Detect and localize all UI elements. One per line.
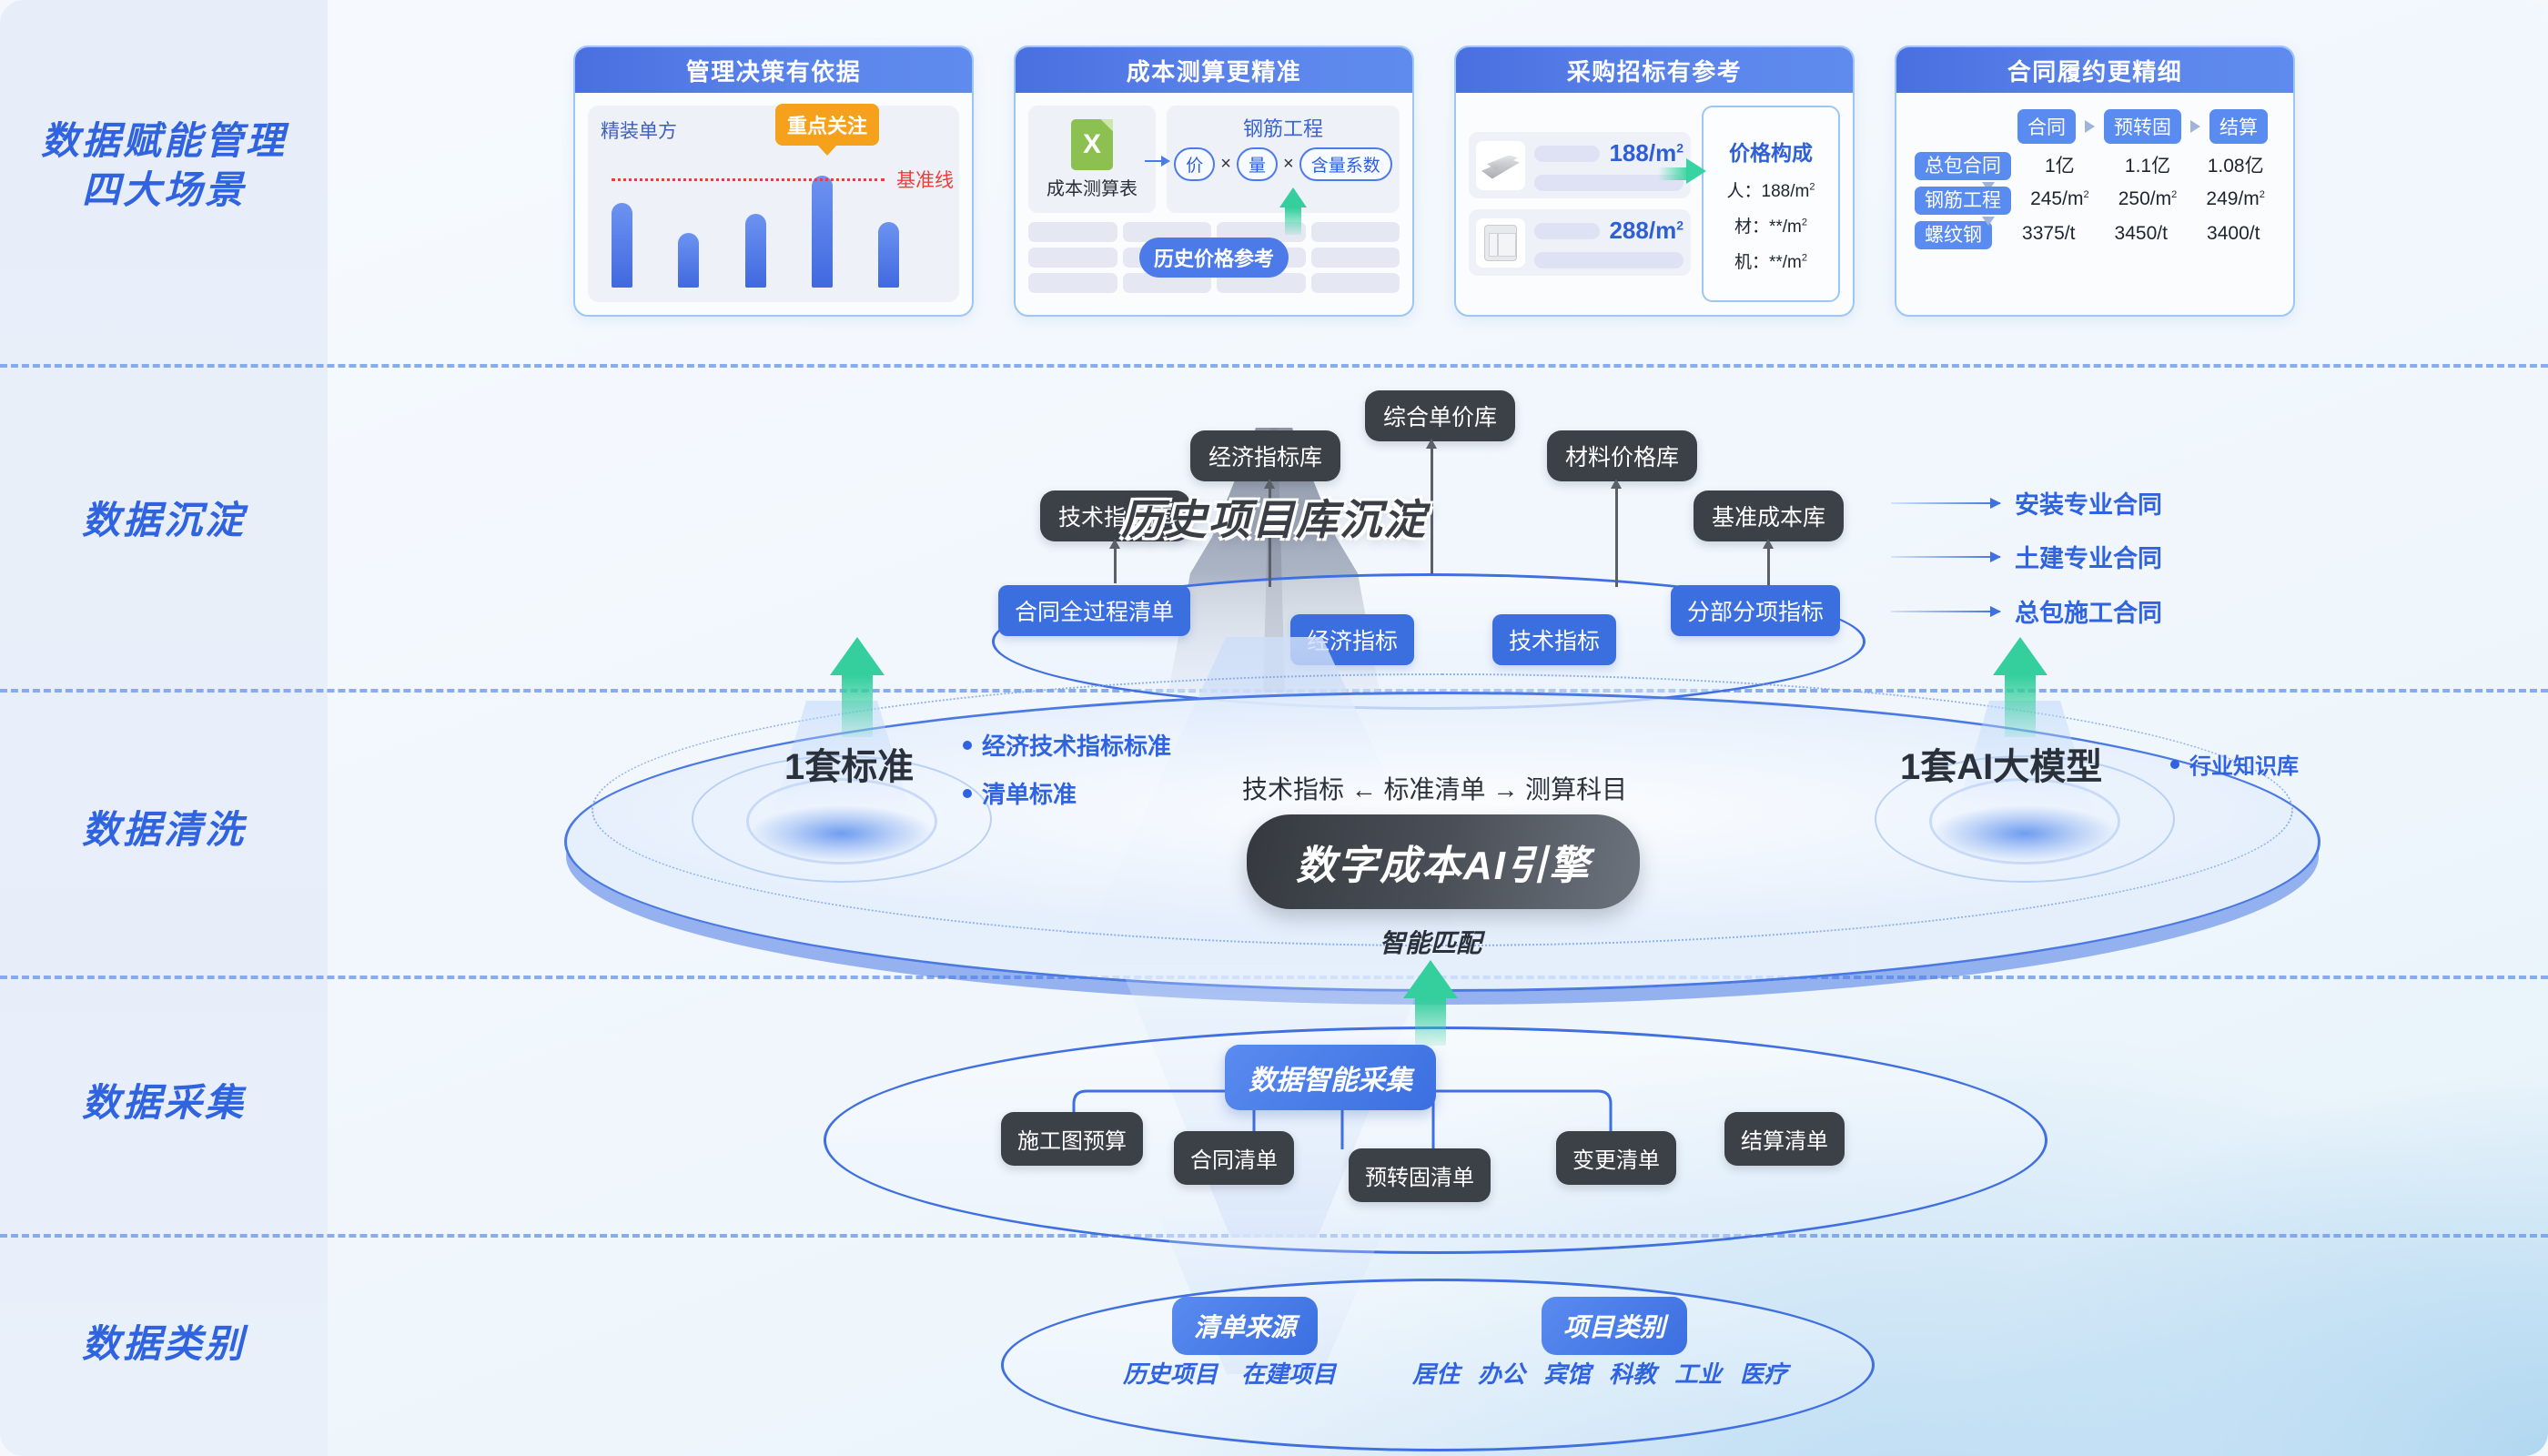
card-management-decision[interactable]: 管理决策有依据 精装单方 基准线 重点关注 — [573, 45, 974, 317]
flow-text: 技术指标 ← 标准清单 → 测算科目 — [1242, 770, 1627, 806]
collection-item-change-list[interactable]: 变更清单 — [1556, 1131, 1676, 1185]
arrow-right-icon — [1891, 502, 2000, 504]
arrow-right-icon — [1891, 611, 2000, 612]
cell-1-2: 1.1亿 — [2108, 151, 2188, 178]
formula-term-price: 价 — [1174, 147, 1215, 181]
formula-term-qty: 量 — [1237, 147, 1278, 181]
rail-label-scenarios: 数据赋能管理 四大场景 — [0, 116, 328, 215]
material-list: 188/m2 288/m2 — [1469, 106, 1691, 302]
rail-label-cleaning: 数据清洗 — [0, 805, 328, 854]
arrow-down-icon — [1982, 217, 1995, 226]
estimation-row: X 成本测算表 钢筋工程 价 × 量 × 含量系数 — [1028, 106, 1400, 213]
formula-term-coef: 含量系数 — [1299, 147, 1392, 181]
cost-table-block: X 成本测算表 — [1028, 106, 1156, 213]
placeholder-bar — [1534, 252, 1683, 268]
row-label-rebar: 钢筋工程 — [1915, 186, 2011, 213]
scenario-cards: 管理决策有依据 精装单方 基准线 重点关注 — [573, 45, 2295, 317]
card-body-1: 精装单方 基准线 重点关注 — [575, 93, 972, 315]
category-type-items: 居住 办公 宾馆 科教 工业 医疗 — [1412, 1356, 1787, 1390]
history-price-block: 历史价格参考 — [1028, 222, 1400, 293]
contract-table-header: 合同 预转固 结算 — [1915, 109, 2275, 144]
card-title-4: 合同履约更精细 — [1896, 47, 2293, 93]
rail-label-scenarios-line2: 四大场景 — [0, 166, 328, 215]
col-header-contract: 合同 — [2017, 109, 2076, 144]
col-header-transfer: 预转固 — [2104, 109, 2181, 144]
cell-1-3: 1.08亿 — [2196, 151, 2275, 178]
collection-main-badge[interactable]: 数据智能采集 — [1225, 1045, 1436, 1110]
collection-item-contract-list[interactable]: 合同清单 — [1174, 1131, 1294, 1185]
price-composition-title: 价格构成 — [1729, 136, 1813, 167]
collection-item-transfer-list[interactable]: 预转固清单 — [1349, 1148, 1491, 1202]
row-label-general: 总包合同 — [1915, 151, 2011, 178]
multiply-icon-1: × — [1220, 154, 1231, 175]
bullet-list-standard: 清单标准 — [963, 776, 1171, 810]
rebar-subject: 钢筋工程 — [1243, 113, 1323, 142]
skeleton-line — [1028, 248, 1117, 268]
chip-contract-full-list[interactable]: 合同全过程清单 — [998, 585, 1190, 636]
card-body-3: 188/m2 288/m2 — [1456, 93, 1853, 315]
bullet-dot — [963, 789, 972, 798]
rail-label-category: 数据类别 — [0, 1319, 328, 1369]
brick-icon — [1476, 141, 1525, 190]
chip-material-price-library[interactable]: 材料价格库 — [1547, 430, 1697, 481]
switch-icon — [1476, 218, 1525, 268]
baseline-label: 基准线 — [896, 166, 954, 193]
category-item-ongoing-project[interactable]: 在建项目 — [1241, 1356, 1336, 1390]
side-arrow-general: 总包施工合同 — [1891, 593, 2162, 629]
rail-label-sedimentation: 数据沉淀 — [0, 496, 328, 545]
skeleton-line — [1311, 273, 1400, 293]
cell-3-1: 3375/t — [2007, 223, 2091, 245]
chip-econ-index-library[interactable]: 经济指标库 — [1190, 430, 1340, 481]
ai-model-bullets: 行业知识库 — [2170, 748, 2299, 794]
bar-chart: 精装单方 基准线 重点关注 — [588, 106, 959, 302]
side-arrow-label-general: 总包施工合同 — [2015, 593, 2162, 629]
card-title-1: 管理决策有依据 — [575, 47, 972, 93]
bar-1 — [612, 203, 632, 288]
chip-composite-price-library[interactable]: 综合单价库 — [1365, 390, 1515, 441]
table-row: 螺纹钢 3375/t 3450/t 3400/t — [1915, 220, 2275, 248]
skeleton-line — [1311, 248, 1400, 268]
price-row-machine: 机：**/m2 — [1734, 248, 1807, 273]
connector-1 — [1114, 547, 1117, 583]
rail-label-scenarios-line1: 数据赋能管理 — [0, 116, 328, 166]
card-cost-estimation[interactable]: 成本测算更精准 X 成本测算表 钢筋工程 价 × 量 × — [1014, 45, 1414, 317]
category-item-medical[interactable]: 医疗 — [1740, 1356, 1787, 1390]
multiply-icon-2: × — [1283, 154, 1294, 175]
chip-baseline-cost-library[interactable]: 基准成本库 — [1694, 490, 1844, 541]
green-up-arrow-right-icon — [2005, 637, 2036, 737]
bullet-industry-knowledge: 行业知识库 — [2170, 748, 2299, 780]
cell-3-3: 3400/t — [2192, 223, 2276, 245]
cell-3-2: 3450/t — [2099, 223, 2183, 245]
chip-tech-index[interactable]: 技术指标 — [1492, 614, 1616, 665]
green-up-arrow-mid-icon — [1415, 960, 1446, 1046]
placeholder-bar — [1534, 223, 1600, 239]
price-row-material: 材：**/m2 — [1734, 213, 1807, 238]
ai-model-title: 1套AI大模型 — [1900, 737, 2102, 790]
side-arrow-label-install: 安装专业合同 — [2015, 485, 2162, 521]
rail-label-collection: 数据采集 — [0, 1078, 328, 1127]
ai-engine-badge[interactable]: 数字成本AI引擎 — [1247, 814, 1640, 909]
chart-bars — [612, 151, 899, 288]
collection-item-drawing-budget[interactable]: 施工图预算 — [1001, 1112, 1143, 1166]
material-meta: 288/m2 — [1534, 217, 1683, 268]
price-composition-panel: 价格构成 人：188/m2 材：**/m2 机：**/m2 — [1702, 106, 1840, 302]
history-price-badge: 历史价格参考 — [1139, 238, 1289, 278]
category-item-education[interactable]: 科教 — [1609, 1356, 1656, 1390]
green-arrow-tail — [1658, 167, 1689, 180]
skeleton-line — [1028, 273, 1117, 293]
table-row: 钢筋工程 245/m2 250/m2 249/m2 — [1915, 186, 2275, 213]
contract-table: 合同 预转固 结算 总包合同 1亿 1.1亿 1.08亿 钢筋工程 — [1909, 106, 2280, 302]
arrow-right-icon — [2190, 120, 2200, 133]
cell-2-2: 250/m2 — [2108, 188, 2188, 210]
baseline-rule — [612, 178, 885, 181]
green-up-arrow-icon — [1285, 187, 1301, 235]
category-item-office[interactable]: 办公 — [1478, 1356, 1525, 1390]
bullet-dot — [2170, 760, 2179, 769]
arrow-right-icon — [2085, 120, 2095, 133]
side-arrow-label-civil: 土建专业合同 — [2015, 539, 2162, 574]
bullet-econ-tech-standard: 经济技术指标标准 — [963, 728, 1171, 762]
col-header-settlement: 结算 — [2209, 109, 2268, 144]
placeholder-bar — [1534, 146, 1600, 162]
formula: 价 × 量 × 含量系数 — [1174, 147, 1391, 181]
material-meta: 188/m2 — [1534, 139, 1683, 191]
smart-match-label: 智能匹配 — [1380, 924, 1481, 960]
card-contract-performance[interactable]: 合同履约更精细 合同 预转固 结算 总包合同 1亿 1.1亿 1.08亿 — [1895, 45, 2295, 317]
bar-4 — [812, 176, 833, 288]
table-row: 总包合同 1亿 1.1亿 1.08亿 — [1915, 151, 2275, 178]
skeleton-line — [1028, 222, 1117, 242]
collection-item-settlement-list[interactable]: 结算清单 — [1724, 1112, 1845, 1166]
focus-badge: 重点关注 — [775, 104, 879, 146]
section-divider-1 — [0, 364, 2548, 368]
category-item-historic-project[interactable]: 历史项目 — [1123, 1356, 1218, 1390]
card-body-4: 合同 预转固 结算 总包合同 1亿 1.1亿 1.08亿 钢筋工程 — [1896, 93, 2293, 315]
mountain-title: 历史项目库沉淀 — [1121, 487, 1427, 547]
cost-table-label: 成本测算表 — [1046, 174, 1137, 200]
cell-2-1: 245/m2 — [2020, 188, 2099, 210]
category-group-type[interactable]: 项目类别 — [1542, 1297, 1687, 1355]
material-row: 188/m2 — [1469, 132, 1691, 198]
material-price-1: 188/m2 — [1609, 139, 1683, 167]
side-arrow-civil: 土建专业合同 — [1891, 539, 2162, 574]
infographic-stage: 数据赋能管理 四大场景 数据沉淀 数据清洗 数据采集 数据类别 管理决策有依据 … — [0, 0, 2548, 1456]
connector-3 — [1431, 447, 1433, 574]
standard-bullets: 经济技术指标标准 清单标准 — [963, 728, 1171, 824]
procurement-row: 188/m2 288/m2 — [1469, 106, 1840, 302]
chart-label: 精装单方 — [601, 116, 946, 144]
one-standard-title: 1套标准 — [784, 737, 914, 790]
chip-subdivision-index[interactable]: 分部分项指标 — [1671, 585, 1840, 636]
material-price-2: 288/m2 — [1609, 217, 1683, 245]
bullet-dot — [963, 741, 972, 750]
card-body-2: X 成本测算表 钢筋工程 价 × 量 × 含量系数 — [1016, 93, 1412, 315]
material-row: 288/m2 — [1469, 209, 1691, 276]
bar-5 — [878, 222, 899, 288]
card-title-3: 采购招标有参考 — [1456, 47, 1853, 93]
category-group-source[interactable]: 清单来源 — [1172, 1297, 1318, 1355]
green-up-arrow-left-icon — [842, 637, 873, 737]
category-item-industrial[interactable]: 工业 — [1674, 1356, 1722, 1390]
category-source-items: 历史项目 在建项目 — [1123, 1356, 1336, 1390]
excel-file-icon: X — [1071, 119, 1113, 170]
price-row-labor: 人：188/m2 — [1727, 177, 1815, 202]
section-rail — [0, 0, 328, 1456]
category-item-residential[interactable]: 居住 — [1412, 1356, 1460, 1390]
side-arrow-install: 安装专业合同 — [1891, 485, 2162, 521]
cell-1-1: 1亿 — [2020, 151, 2099, 178]
card-title-2: 成本测算更精准 — [1016, 47, 1412, 93]
skeleton-line — [1311, 222, 1400, 242]
card-procurement-bidding[interactable]: 采购招标有参考 188/m2 — [1454, 45, 1855, 317]
bar-2 — [678, 233, 699, 288]
arrow-right-icon — [1145, 160, 1168, 162]
cell-2-3: 249/m2 — [2196, 188, 2275, 210]
arrow-right-icon — [1891, 556, 2000, 558]
connector-4 — [1615, 487, 1618, 587]
green-arrow-right-icon — [1686, 158, 1706, 184]
bar-3 — [745, 214, 766, 288]
category-item-hotel[interactable]: 宾馆 — [1543, 1356, 1591, 1390]
